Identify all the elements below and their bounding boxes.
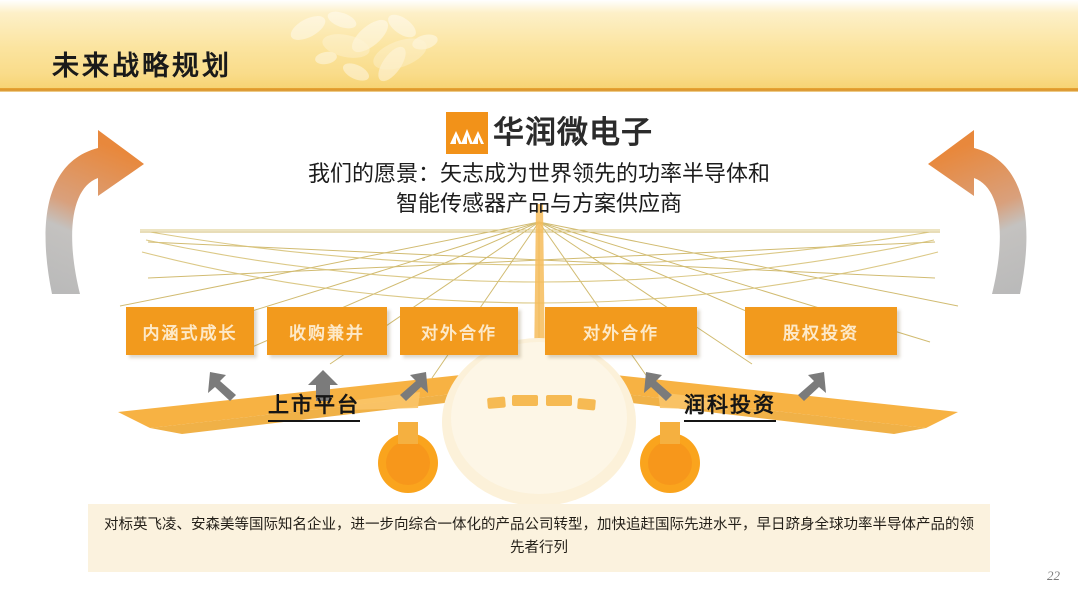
arrow-up-left-icon-2 bbox=[642, 368, 676, 402]
slide-canvas: 未来战略规划 bbox=[0, 0, 1078, 594]
page-number: 22 bbox=[1047, 568, 1060, 584]
company-logo: 华润微电子 bbox=[446, 112, 653, 154]
vision-line-1: 我们的愿景：矢志成为世界领先的功率半导体和 bbox=[239, 160, 839, 190]
strategy-box-organic-growth[interactable]: 内涵式成长 bbox=[126, 307, 254, 355]
slide-header-band: 未来战略规划 bbox=[0, 0, 1078, 92]
three-peaks-mountain-mark-icon bbox=[446, 112, 488, 154]
floral-watermark-icon bbox=[250, 2, 500, 90]
curved-arrow-up-left-icon bbox=[916, 126, 1036, 306]
label-runke-investment: 润科投资 bbox=[684, 389, 776, 422]
strategy-box-external-cooperation-2[interactable]: 对外合作 bbox=[545, 307, 697, 355]
vision-statement: 我们的愿景：矢志成为世界领先的功率半导体和 智能传感器产品与方案供应商 bbox=[239, 160, 839, 221]
arrow-up-right-icon bbox=[396, 368, 430, 402]
strategy-box-acquisition-merger[interactable]: 收购兼并 bbox=[267, 307, 387, 355]
bottom-caption: 对标英飞凌、安森美等国际知名企业，进一步向综合一体化的产品公司转型，加快追赶国际… bbox=[88, 504, 990, 572]
label-listed-platform: 上市平台 bbox=[268, 389, 360, 422]
curved-arrow-up-right-icon bbox=[36, 126, 156, 306]
arrow-up-left-icon bbox=[206, 368, 240, 402]
strategy-box-equity-investment[interactable]: 股权投资 bbox=[745, 307, 897, 355]
company-logo-text: 华润微电子 bbox=[493, 118, 653, 149]
page-title: 未来战略规划 bbox=[52, 44, 232, 83]
vision-line-2: 智能传感器产品与方案供应商 bbox=[239, 190, 839, 220]
arrow-up-right-icon-2 bbox=[794, 368, 828, 402]
strategy-box-external-cooperation-1[interactable]: 对外合作 bbox=[400, 307, 518, 355]
slide-body: 华润微电子 我们的愿景：矢志成为世界领先的功率半导体和 智能传感器产品与方案供应… bbox=[0, 92, 1078, 594]
